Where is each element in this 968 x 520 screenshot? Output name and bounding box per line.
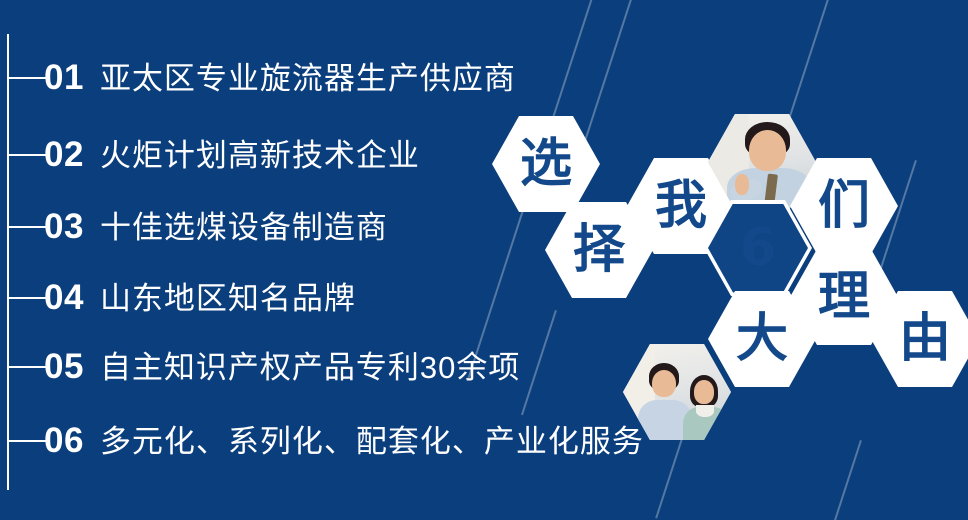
photo-face <box>749 130 786 170</box>
hex-six-inner: 6 <box>708 204 808 293</box>
hex-xuan: 选 <box>492 116 600 212</box>
hex-ze-glyph: 择 <box>573 224 625 276</box>
photo-woman-collar <box>696 405 713 417</box>
hex-you-glyph: 由 <box>899 313 951 365</box>
photo-woman-face <box>694 380 713 403</box>
hex-wo-glyph: 我 <box>655 180 707 232</box>
hexagon-cluster: 选 择 我 6 <box>0 0 968 520</box>
portrait-colleagues <box>623 344 731 440</box>
hex-xuan-glyph: 选 <box>520 138 572 190</box>
photo-thumb <box>735 174 749 195</box>
banner-canvas: 01 亚太区专业旋流器生产供应商 02 火炬计划高新技术企业 03 十佳选煤设备… <box>0 0 968 520</box>
hex-six-glyph: 6 <box>740 222 776 274</box>
hex-men-glyph: 们 <box>818 180 870 232</box>
hex-da-glyph: 大 <box>736 313 788 365</box>
hex-photo-couple <box>623 344 731 440</box>
photo-man-face <box>652 370 676 397</box>
hex-li-glyph: 理 <box>818 271 870 323</box>
